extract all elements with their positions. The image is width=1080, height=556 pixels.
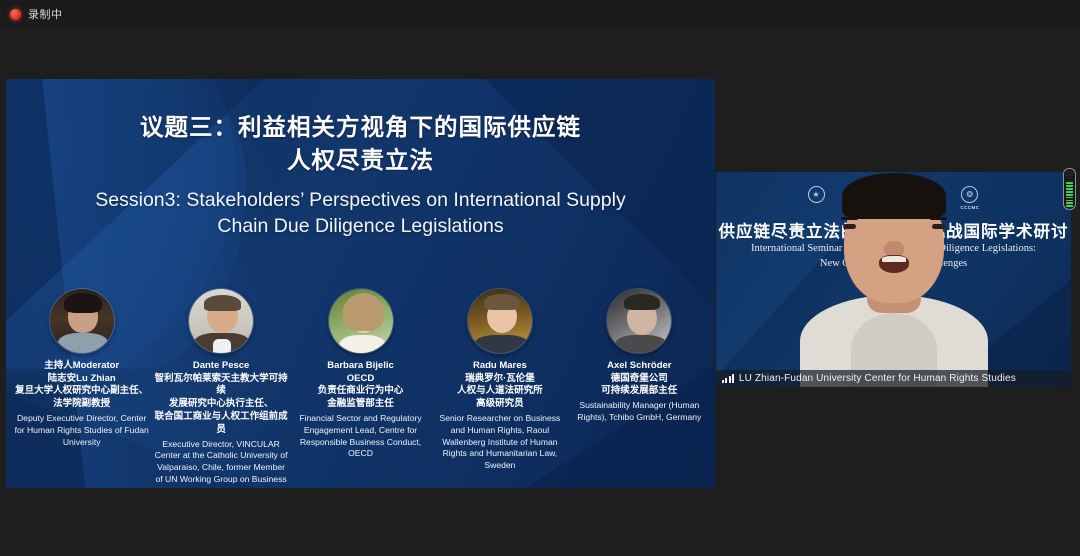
speaker-affiliation-zh-2: 法学院副教授 <box>53 398 110 411</box>
participant-video-tile[interactable]: ★ ⦾ CNTAC ❂ CCCMC 供应链尽责立法的新机遇与挑战国际学术研讨会 … <box>716 172 1071 387</box>
slide-title-english-line1: Session3: Stakeholders’ Perspectives on … <box>6 187 715 214</box>
slide-title-english-line2: Chain Due Diligence Legislations <box>6 213 715 240</box>
speaker-name: 陆志安Lu Zhian <box>48 373 116 386</box>
speaker-affiliation-en: Deputy Executive Director, Center for Hu… <box>12 413 151 448</box>
speaker-affiliation-zh-1: 负责任商业行为中心 <box>318 385 404 398</box>
speaker-card: Barbara Bijelic OECD 负责任商业行为中心 金融监管部主任 F… <box>291 288 430 460</box>
emblem-logo-icon: ★ <box>808 186 825 203</box>
speaker-name: Dante Pesce <box>193 360 250 373</box>
audio-level-meter <box>1063 168 1076 210</box>
speaker-card: Radu Mares 瑞典罗尔·瓦伦堡 人权与人道法研究所 高级研究员 Seni… <box>430 288 569 472</box>
slide-title-english: Session3: Stakeholders’ Perspectives on … <box>6 187 715 240</box>
avatar <box>188 288 254 354</box>
slide-title-chinese-line2: 人权尽责立法 <box>6 144 715 177</box>
recording-indicator-icon <box>10 9 21 20</box>
avatar <box>467 288 533 354</box>
recording-bar: 录制中 <box>0 0 1080 28</box>
avatar <box>606 288 672 354</box>
speaker-affiliation-en: Financial Sector and Regulatory Engageme… <box>291 413 430 460</box>
speaker-affiliation-zh-1: 复旦大学人权研究中心副主任、 <box>15 385 148 398</box>
avatar <box>49 288 115 354</box>
shared-screen-slide[interactable]: 议题三：利益相关方视角下的国际供应链 人权尽责立法 Session3: Stak… <box>6 79 715 488</box>
speaker-affiliation-en: Senior Researcher on Business and Human … <box>430 413 569 472</box>
speaker-card: Dante Pesce 智利瓦尔帕莱索天主教大学可持续 发展研究中心执行主任、 … <box>151 288 290 488</box>
speaker-affiliation-zh-2: 可持续发展部主任 <box>601 385 677 398</box>
speaker-name: Barbara Bijelic <box>327 360 394 373</box>
recording-label: 录制中 <box>28 6 63 22</box>
speaker-affiliation-zh-1: 智利瓦尔帕莱索天主教大学可持续 <box>151 373 290 399</box>
signal-bars-icon <box>722 374 734 383</box>
participant-webcam-person <box>799 207 989 387</box>
speaker-affiliation-zh-1: 德国奇堡公司 <box>611 373 668 386</box>
speaker-affiliation-zh-2: 金融监管部主任 <box>327 398 394 411</box>
speaker-affiliation-en: Executive Director, VINCULAR Center at t… <box>151 439 290 488</box>
speaker-list: 主持人Moderator 陆志安Lu Zhian 复旦大学人权研究中心副主任、 … <box>6 288 715 488</box>
participant-name-strip: LU Zhian-Fudan University Center for Hum… <box>716 370 1071 387</box>
speaker-organization: OECD <box>347 373 374 386</box>
slide-title-chinese-line1: 议题三：利益相关方视角下的国际供应链 <box>6 111 715 144</box>
speaker-affiliation-zh-3: 高级研究员 <box>476 398 524 411</box>
speaker-affiliation-zh-2: 人权与人道法研究所 <box>457 385 543 398</box>
speaker-affiliation-zh-1: 瑞典罗尔·瓦伦堡 <box>465 373 535 386</box>
speaker-name: Axel Schröder <box>607 360 671 373</box>
speaker-card: 主持人Moderator 陆志安Lu Zhian 复旦大学人权研究中心副主任、 … <box>12 288 151 448</box>
speaker-affiliation-zh-3: 联合国工商业与人权工作组前成员 <box>151 411 290 437</box>
slide-title-chinese: 议题三：利益相关方视角下的国际供应链 人权尽责立法 <box>6 111 715 178</box>
speaker-role: 主持人Moderator <box>44 360 119 373</box>
speaker-card: Axel Schröder 德国奇堡公司 可持续发展部主任 Sustainabi… <box>570 288 709 424</box>
speaker-name: Radu Mares <box>473 360 527 373</box>
speaker-affiliation-en: Sustainability Manager (Human Rights), T… <box>570 400 709 424</box>
participant-name-label: LU Zhian-Fudan University Center for Hum… <box>739 373 1016 384</box>
meeting-window: 录制中 议题三：利益相关方视角下的国际供应链 人权尽责立法 Session3: … <box>0 0 1080 556</box>
avatar <box>328 288 394 354</box>
speaker-affiliation-zh-2: 发展研究中心执行主任、 <box>169 398 274 411</box>
cccmc-logo-icon: ❂ <box>961 186 978 203</box>
